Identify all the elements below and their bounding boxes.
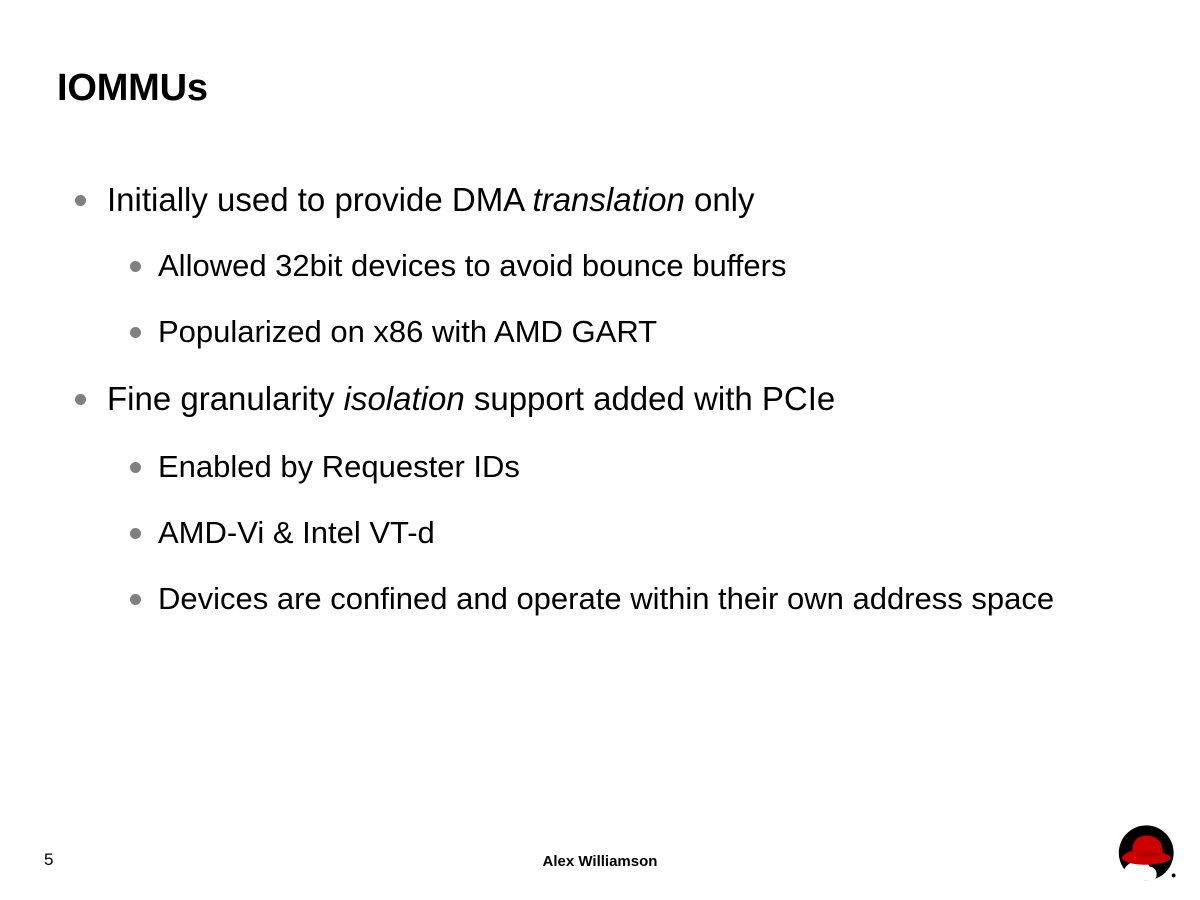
bullet-text-before: Devices are confined and operate within … bbox=[158, 581, 1054, 616]
bullet-level2: AMD-Vi & Intel VT-d bbox=[60, 510, 1120, 556]
bullet-text-before: Popularized on x86 with AMD GART bbox=[158, 314, 657, 349]
bullet-text: Fine granularity isolation support added… bbox=[107, 375, 1120, 422]
bullet-text-before: Allowed 32bit devices to avoid bounce bu… bbox=[158, 248, 786, 283]
bullet-level1: Initially used to provide DMA translatio… bbox=[60, 176, 1120, 223]
spacer bbox=[60, 359, 1120, 375]
slide-body: Initially used to provide DMA translatio… bbox=[60, 176, 1120, 626]
bullet-marker-icon bbox=[130, 261, 141, 272]
bullet-text-after: only bbox=[685, 181, 755, 218]
bullet-text-before: Initially used to provide DMA bbox=[107, 181, 533, 218]
bullet-marker-icon bbox=[130, 594, 141, 605]
bullet-text-emphasis: isolation bbox=[344, 380, 465, 417]
bullet-text-before: Enabled by Requester IDs bbox=[158, 449, 520, 484]
bullet-text: Popularized on x86 with AMD GART bbox=[158, 309, 1120, 355]
bullet-marker-icon bbox=[130, 327, 141, 338]
bullet-level2: Popularized on x86 with AMD GART bbox=[60, 309, 1120, 355]
spacer bbox=[60, 494, 1120, 510]
bullet-marker-icon bbox=[130, 462, 141, 473]
bullet-text: Devices are confined and operate within … bbox=[158, 576, 1120, 622]
bullet-level2: Devices are confined and operate within … bbox=[60, 576, 1120, 622]
bullet-level1: Fine granularity isolation support added… bbox=[60, 375, 1120, 422]
spacer bbox=[60, 293, 1120, 309]
bullet-text-emphasis: translation bbox=[533, 181, 685, 218]
bullet-marker-icon bbox=[130, 528, 141, 539]
slide-title: IOMMUs bbox=[57, 68, 208, 110]
red-hat-shadowman-logo bbox=[1112, 823, 1184, 885]
bullet-text: Allowed 32bit devices to avoid bounce bu… bbox=[158, 243, 1120, 289]
bullet-text-after: support added with PCIe bbox=[465, 380, 836, 417]
bullet-text-before: AMD-Vi & Intel VT-d bbox=[158, 515, 435, 550]
bullet-marker-icon bbox=[75, 195, 86, 206]
bullet-text: AMD-Vi & Intel VT-d bbox=[158, 510, 1120, 556]
spacer bbox=[60, 560, 1120, 576]
bullet-text-before: Fine granularity bbox=[107, 380, 344, 417]
bullet-text: Enabled by Requester IDs bbox=[158, 444, 1120, 490]
bullet-level2: Enabled by Requester IDs bbox=[60, 444, 1120, 490]
red-hat-shadowman-icon bbox=[1112, 823, 1184, 885]
spacer bbox=[60, 426, 1120, 444]
slide-canvas: IOMMUs Initially used to provide DMA tra… bbox=[0, 0, 1200, 900]
spacer bbox=[60, 227, 1120, 243]
presenter-name: Alex Williamson bbox=[0, 853, 1200, 870]
bullet-marker-icon bbox=[75, 394, 86, 405]
bullet-text: Initially used to provide DMA translatio… bbox=[107, 176, 1120, 223]
bullet-level2: Allowed 32bit devices to avoid bounce bu… bbox=[60, 243, 1120, 289]
